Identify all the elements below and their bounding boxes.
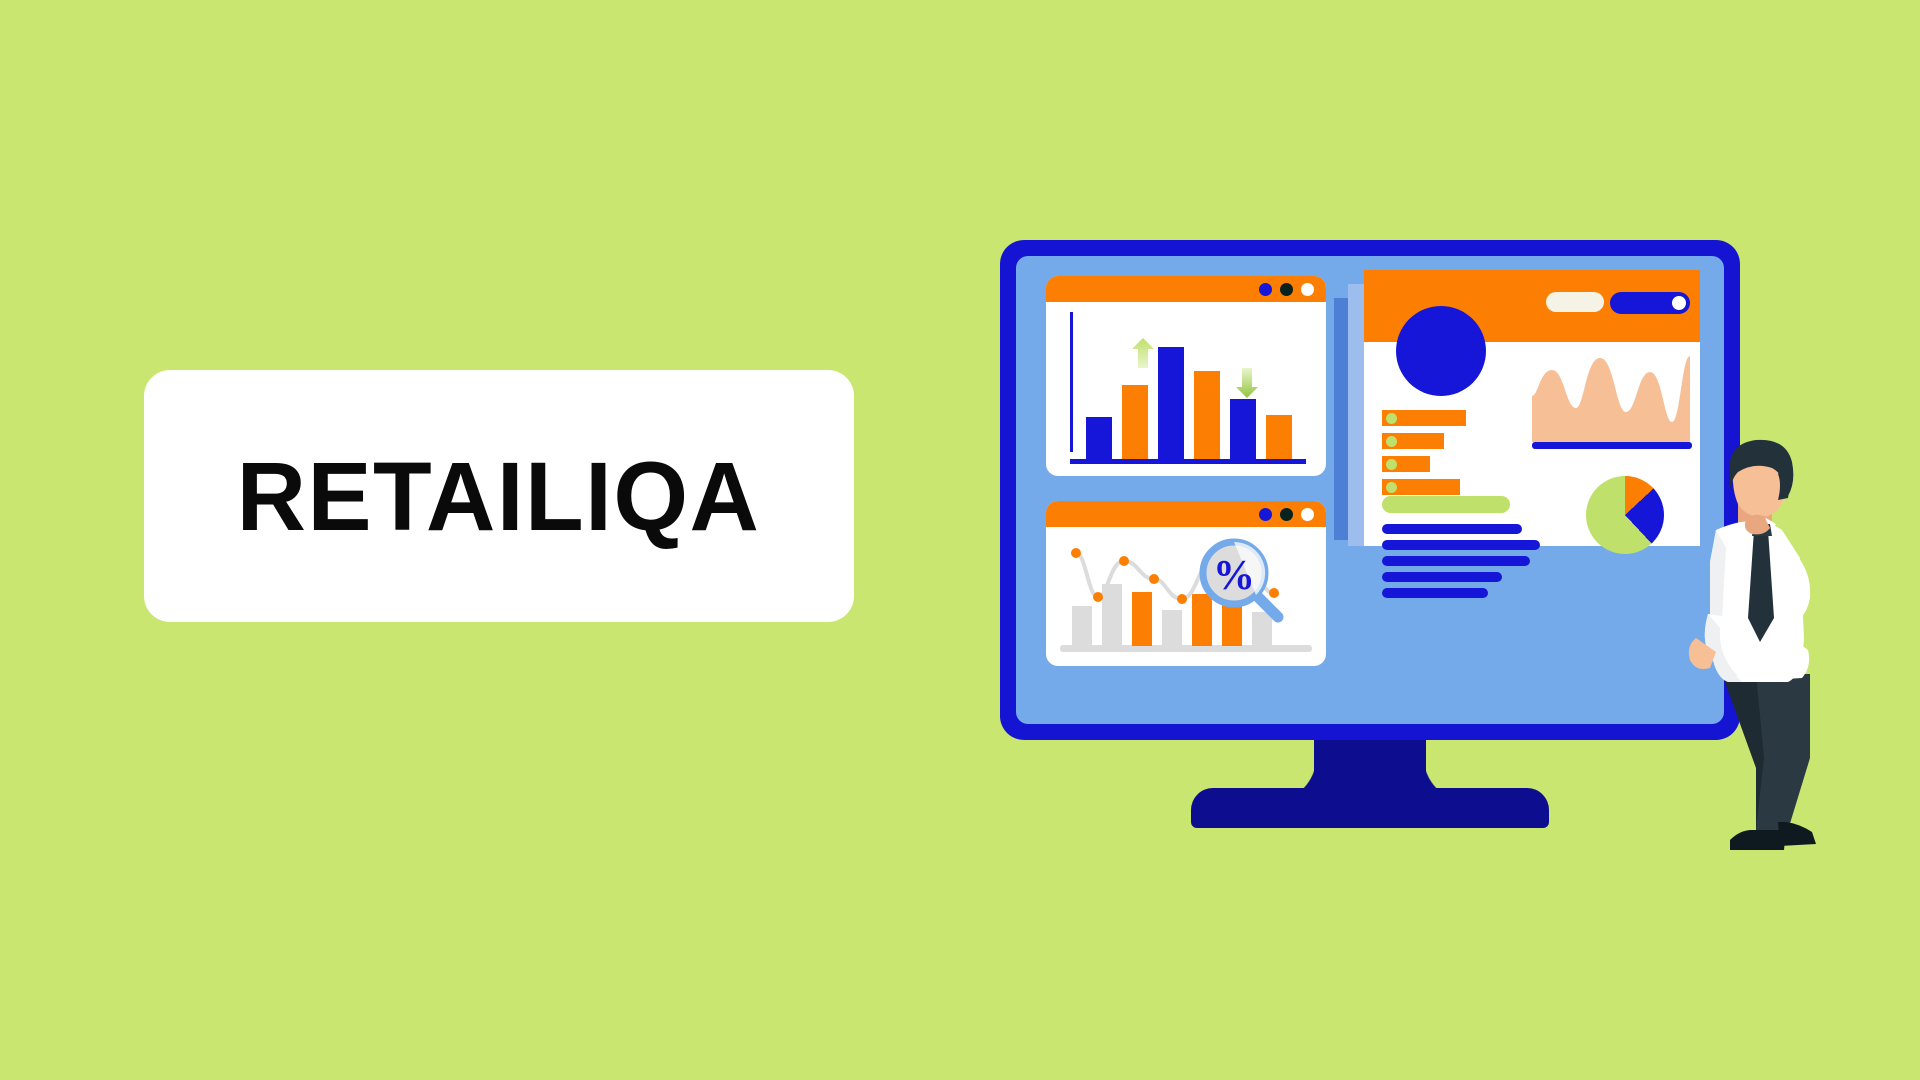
- list-item[interactable]: [1382, 410, 1466, 426]
- dashboard-shadow-front: [1348, 284, 1364, 546]
- dashboard-pie-chart: [1586, 476, 1664, 554]
- text-line: [1382, 572, 1502, 582]
- trend-plot-area: %: [1046, 527, 1326, 666]
- window-dot-blue-icon[interactable]: [1259, 508, 1272, 521]
- window-dot-white-icon[interactable]: [1301, 283, 1314, 296]
- dashboard-green-pill: [1382, 496, 1510, 513]
- status-dot-icon: [1386, 459, 1397, 470]
- y-axis: [1070, 312, 1073, 452]
- dashboard-text-lines: [1382, 524, 1540, 598]
- monitor-screen: %: [1016, 256, 1724, 724]
- bar-1: [1086, 417, 1112, 459]
- businessman-figure: [1660, 438, 1890, 858]
- bar-5: [1230, 399, 1256, 459]
- dashboard-search-pill[interactable]: [1546, 292, 1604, 312]
- bar-chart-window[interactable]: [1046, 276, 1326, 476]
- arrow-up-icon: [1132, 338, 1154, 368]
- brand-logo-card: RETAILIQA: [144, 370, 854, 622]
- text-line: [1382, 524, 1522, 534]
- status-dot-icon: [1386, 413, 1397, 424]
- list-item[interactable]: [1382, 479, 1460, 495]
- status-dot-icon: [1386, 436, 1397, 447]
- monitor-bezel: %: [1000, 240, 1740, 740]
- text-line: [1382, 588, 1488, 598]
- magnifier-percent-icon[interactable]: %: [1198, 537, 1284, 623]
- window-dot-white-icon[interactable]: [1301, 508, 1314, 521]
- list-item[interactable]: [1382, 433, 1444, 449]
- bar-2: [1122, 385, 1148, 459]
- window-titlebar: [1046, 501, 1326, 527]
- magnifier-percent-label: %: [1213, 553, 1255, 599]
- dashboard-shadow-back: [1334, 298, 1348, 540]
- text-line: [1382, 556, 1530, 566]
- status-dot-icon: [1386, 482, 1397, 493]
- monitor-base: [1191, 788, 1549, 828]
- dashboard-list: [1382, 410, 1466, 495]
- brand-name: RETAILIQA: [237, 448, 761, 545]
- x-axis: [1070, 459, 1306, 464]
- window-titlebar: [1046, 276, 1326, 302]
- dashboard-panel[interactable]: [1364, 270, 1700, 546]
- avatar: [1396, 306, 1486, 396]
- trend-chart-window[interactable]: %: [1046, 501, 1326, 666]
- trend-line: [1046, 527, 1326, 666]
- dashboard-toggle-pill[interactable]: [1610, 292, 1690, 314]
- window-dot-dark-icon[interactable]: [1280, 508, 1293, 521]
- monitor-illustration: %: [1000, 240, 1740, 840]
- text-line: [1382, 540, 1540, 550]
- bar-chart-plot-area: [1046, 302, 1326, 476]
- list-item[interactable]: [1382, 456, 1430, 472]
- arrow-down-icon: [1236, 368, 1258, 398]
- dashboard-area-chart: [1532, 354, 1690, 442]
- window-dot-dark-icon[interactable]: [1280, 283, 1293, 296]
- bar-4: [1194, 371, 1220, 459]
- illustration-canvas: RETAILIQA: [0, 0, 1920, 1080]
- bar-3: [1158, 347, 1184, 459]
- bar-6: [1266, 415, 1292, 459]
- window-dot-blue-icon[interactable]: [1259, 283, 1272, 296]
